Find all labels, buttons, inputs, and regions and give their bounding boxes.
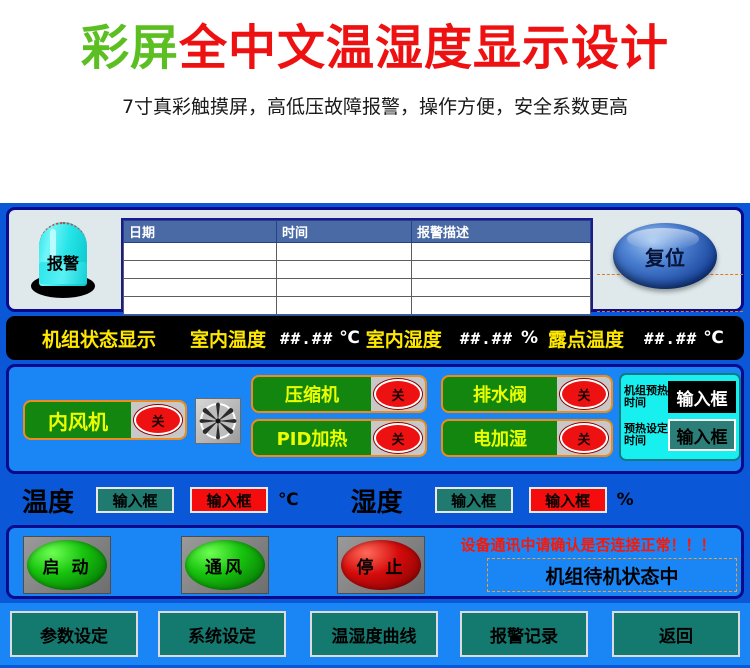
hmi-screen: 报警 日期 时间 报警描述	[0, 203, 750, 668]
indoor-humidity-unit: %	[521, 328, 538, 348]
indoor-humidity-value: ##.##	[460, 329, 513, 348]
navigation-bar: 参数设定 系统设定 温湿度曲线 报警记录 返回	[0, 603, 750, 665]
table-row[interactable]	[124, 279, 591, 297]
fan-icon-svg	[196, 399, 240, 443]
humidity-high-input[interactable]: 输入框	[529, 487, 607, 513]
humidity-unit: %	[617, 490, 634, 510]
compressor-label: 压缩机	[253, 381, 371, 407]
column-header-description: 报警描述	[412, 221, 591, 243]
indoor-temp-unit: ℃	[339, 328, 360, 348]
reset-button-label: 复位	[645, 242, 685, 271]
electric-humidifier-state: 关	[560, 423, 608, 453]
temperature-low-input[interactable]: 输入框	[96, 487, 174, 513]
alarm-log-table[interactable]: 日期 时间 报警描述	[121, 218, 593, 310]
dew-point-unit: ℃	[703, 328, 724, 348]
action-panel: 启 动 通风 停 止 设备通讯中请确认是否连接正常！！！ 机组待机状态中	[6, 525, 744, 599]
table-row[interactable]	[124, 297, 591, 315]
cell-description	[412, 297, 591, 315]
table-header-row: 日期 时间 报警描述	[124, 221, 591, 243]
ventilation-button[interactable]: 通风	[181, 536, 269, 594]
preheat-elapsed-row: 机组预热时间 输入框	[624, 381, 736, 413]
indoor-humidity-label: 室内湿度	[366, 325, 442, 352]
title-part-red: 全中文温湿度显示设计	[179, 20, 669, 76]
standby-status-box: 机组待机状态中	[487, 558, 737, 592]
cell-time	[277, 243, 412, 261]
humidity-low-input[interactable]: 输入框	[435, 487, 513, 513]
promo-header: 彩屏全中文温湿度显示设计 7寸真彩触摸屏，高低压故障报警，操作方便，安全系数更高	[0, 0, 750, 200]
electric-humidifier-label: 电加湿	[443, 425, 557, 451]
compressor-indicator[interactable]: 关	[371, 377, 425, 411]
alarm-lamp-label: 报警	[31, 250, 95, 274]
ventilation-button-label: 通风	[185, 540, 265, 590]
preheat-setpoint-input[interactable]: 输入框	[668, 419, 736, 451]
page-title: 彩屏全中文温湿度显示设计	[0, 8, 750, 78]
pid-heat-control[interactable]: PID加热 关	[251, 419, 427, 457]
preheat-setpoint-row: 预热设定时间 输入框	[624, 419, 736, 451]
setpoint-row: 温度 输入框 输入框 ℃ 湿度 输入框 输入框 %	[0, 480, 750, 520]
nav-button-back[interactable]: 返回	[612, 611, 740, 657]
indoor-temp-label: 室内温度	[190, 325, 266, 352]
pid-heat-state: 关	[374, 423, 422, 453]
cell-description	[412, 279, 591, 297]
cell-date	[124, 297, 277, 315]
pid-heat-indicator[interactable]: 关	[371, 421, 425, 455]
preheat-elapsed-input[interactable]: 输入框	[668, 381, 736, 413]
inner-fan-indicator[interactable]: 关	[131, 402, 185, 438]
column-header-time: 时间	[277, 221, 412, 243]
preheat-setpoint-label: 预热设定时间	[624, 423, 668, 447]
cell-time	[277, 261, 412, 279]
table-row[interactable]	[124, 243, 591, 261]
nav-button-alarm-log[interactable]: 报警记录	[460, 611, 588, 657]
alarm-panel: 报警 日期 时间 报警描述	[6, 207, 744, 312]
unit-state-label: 机组状态显示	[42, 325, 156, 352]
compressor-state: 关	[374, 379, 422, 409]
inner-fan-label: 内风机	[25, 406, 131, 435]
reset-area: 复位	[597, 214, 743, 310]
drain-valve-label: 排水阀	[443, 381, 557, 407]
cell-date	[124, 243, 277, 261]
pid-heat-label: PID加热	[253, 425, 371, 451]
column-header-date: 日期	[124, 221, 277, 243]
temperature-unit: ℃	[278, 490, 299, 510]
drain-valve-state: 关	[560, 379, 608, 409]
cell-date	[124, 261, 277, 279]
title-part-green: 彩屏	[81, 20, 179, 76]
start-button[interactable]: 启 动	[23, 536, 111, 594]
humidity-label: 湿度	[351, 482, 403, 519]
cell-date	[124, 279, 277, 297]
dew-point-value: ##.##	[644, 329, 697, 348]
temperature-high-input[interactable]: 输入框	[190, 487, 268, 513]
nav-button-temp-humidity-curve[interactable]: 温湿度曲线	[310, 611, 438, 657]
compressor-control[interactable]: 压缩机 关	[251, 375, 427, 413]
electric-humidifier-indicator[interactable]: 关	[557, 421, 611, 455]
equipment-control-panel: 内风机 关 压缩机	[6, 364, 744, 474]
cell-time	[277, 279, 412, 297]
drain-valve-indicator[interactable]: 关	[557, 377, 611, 411]
fan-icon	[195, 398, 241, 444]
drain-valve-control[interactable]: 排水阀 关	[441, 375, 613, 413]
reset-button[interactable]: 复位	[613, 223, 717, 289]
table-row[interactable]	[124, 261, 591, 279]
nav-button-parameter-settings[interactable]: 参数设定	[10, 611, 138, 657]
stop-button-label: 停 止	[341, 540, 421, 590]
nav-button-system-settings[interactable]: 系统设定	[158, 611, 286, 657]
start-button-label: 启 动	[27, 540, 107, 590]
dew-point-label: 露点温度	[548, 325, 624, 352]
inner-fan-control[interactable]: 内风机 关	[23, 400, 187, 440]
stop-button[interactable]: 停 止	[337, 536, 425, 594]
preheat-panel: 机组预热时间 输入框 预热设定时间 输入框	[619, 373, 741, 461]
alarm-lamp-icon: 报警	[31, 222, 95, 300]
cell-description	[412, 243, 591, 261]
unit-status-bar: 机组状态显示 室内温度 ##.## ℃ 室内湿度 ##.## % 露点温度 ##…	[6, 316, 744, 360]
electric-humidifier-control[interactable]: 电加湿 关	[441, 419, 613, 457]
inner-fan-state: 关	[134, 405, 182, 435]
preheat-elapsed-label: 机组预热时间	[624, 385, 668, 409]
temperature-label: 温度	[22, 482, 74, 519]
communication-warning: 设备通讯中请确认是否连接正常！！！	[433, 534, 743, 555]
cell-time	[277, 297, 412, 315]
cell-description	[412, 261, 591, 279]
indoor-temp-value: ##.##	[280, 329, 333, 348]
page-subtitle: 7寸真彩触摸屏，高低压故障报警，操作方便，安全系数更高	[0, 92, 750, 119]
